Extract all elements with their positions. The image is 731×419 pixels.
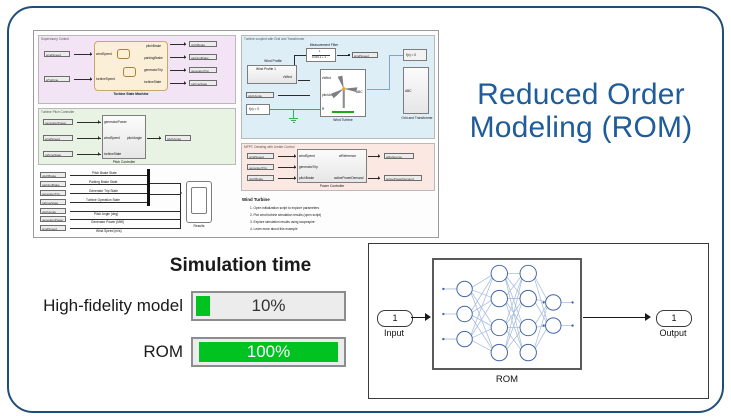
port-out-filter-windspeed[interactable]: windSpeed: [352, 52, 378, 58]
label-solver-config-2: f(x) = 0: [406, 53, 416, 57]
input-port-value: 1: [392, 313, 397, 323]
page-title: Reduced Order Modeling (ROM): [445, 78, 717, 144]
caption-pitch-controller: Pitch Controller: [102, 160, 146, 164]
label-chart-in-windspeed: windSpeed: [96, 52, 112, 56]
wire-arrow: [378, 154, 380, 158]
caption-wind-profile: Wind Profile: [246, 59, 300, 63]
caption-grid-and-transformer: Grid and Transformer: [397, 116, 437, 120]
wire-arrow: [294, 176, 296, 180]
scope-port-generatorpower[interactable]: generatorPower: [40, 216, 66, 222]
simulation-time-heading: Simulation time: [133, 255, 348, 277]
label-power-out-wreference: wReference: [339, 154, 356, 158]
scope-screen: [191, 187, 207, 214]
port-in-power-pitchbrake[interactable]: pitchBrake: [247, 175, 274, 181]
wire: [70, 211, 180, 212]
label-power-in-pitchbrake: pitchBrake: [299, 176, 314, 180]
rom-diagram-panel[interactable]: 1 Input: [368, 243, 709, 399]
output-port-value: 1: [671, 313, 676, 323]
wire-arrow: [98, 152, 100, 156]
label-chart-out-pitchbrake: pitchBrake: [146, 44, 161, 48]
notes-item-4[interactable]: 4. Learn more about this example: [250, 227, 298, 231]
port-in-pitch-turbinestate[interactable]: turbineState: [43, 151, 73, 157]
progress-bar-rom[interactable]: 100%: [191, 337, 346, 367]
wire-arrow: [98, 120, 100, 124]
port-in-supervisory-wturbine[interactable]: wTurbine: [44, 76, 70, 82]
notes-heading: Wind Turbine: [242, 197, 270, 202]
sim-label-high-fidelity: High-fidelity model: [28, 291, 183, 321]
label-chart-out-generatortrip: generatorTrip: [144, 68, 163, 72]
simulink-model-canvas[interactable]: Supervisory Control windSpeed wTurbine w…: [33, 30, 439, 238]
label-solver-config-1: f(x) = 0: [249, 107, 259, 111]
port-in-supervisory-windspeed[interactable]: windSpeed: [44, 51, 70, 57]
title-line-2: Modeling (ROM): [445, 111, 717, 144]
port-out-pitchangle[interactable]: pitchAngle: [165, 135, 191, 141]
wire-arrow: [294, 165, 296, 169]
sim-row-rom: ROM 100%: [28, 337, 348, 367]
simulation-time-section: Simulation time High-fidelity model 10% …: [28, 255, 348, 375]
label-chart-in-turbinespeed: turbineSpeed: [96, 77, 115, 81]
scope-port-pitchangle[interactable]: pitchAngle: [40, 208, 66, 214]
scope-port-turbinestate[interactable]: turbineState: [40, 199, 66, 205]
signal-label-generator-power: Generator Power (MW): [91, 220, 124, 224]
wire-arrow: [90, 52, 92, 56]
scope-port-parkingbrake[interactable]: parkingBrake: [40, 181, 66, 187]
caption-power-controller: Power Controller: [297, 184, 367, 188]
bus-wire: [389, 55, 390, 90]
output-port-block[interactable]: 1: [656, 310, 692, 327]
label-wind-profile-out: vWind: [283, 75, 292, 79]
label-power-out-activepowerdemand: activePowerDemand: [334, 176, 363, 180]
port-out-parkingbrake[interactable]: parkingBrake: [189, 54, 217, 60]
wire-junction: [348, 54, 350, 56]
label-power-in-generatortrip: generatorTrip: [299, 165, 318, 169]
progress-percent-rom: 100%: [193, 339, 344, 365]
title-line-1: Reduced Order: [445, 78, 717, 111]
wire-arrow: [159, 136, 161, 140]
wire: [70, 175, 147, 176]
label-pitch-out-pitchangle: pitchAngle: [127, 136, 142, 140]
output-port-caption: Output: [651, 328, 695, 338]
notes-item-1[interactable]: 1. Open initialization script to explore…: [250, 206, 319, 210]
wire: [70, 184, 147, 185]
wire-arrow: [378, 176, 380, 180]
label-wind-profile-1: Wind Profile 1: [256, 67, 276, 71]
label-chart-out-turbinestate: turbineState: [144, 80, 161, 84]
caption-turbine-state-machine: Turbine State Machine: [94, 92, 168, 96]
label-pitch-in-turbinestate: turbineState: [104, 152, 121, 156]
wire-arrow: [180, 191, 182, 195]
wire: [278, 95, 310, 96]
label-pitch-in-generatorpower: generatorPower: [104, 120, 127, 124]
state-node-b: [123, 67, 136, 77]
wire: [180, 183, 181, 229]
state-node-a: [117, 49, 130, 59]
wire-arrow: [98, 136, 100, 140]
scope-port-windspeed[interactable]: windSpeed: [40, 225, 66, 231]
group-title-supervisory: Supervisory Control: [41, 37, 69, 41]
port-in-power-generatortrip[interactable]: generatorTrip: [247, 164, 274, 170]
rom-block-caption: ROM: [457, 374, 557, 385]
group-title-turbine-grid: Turbine coupled with Grid and Transforme…: [244, 37, 304, 41]
slide-canvas: Reduced Order Modeling (ROM) Supervisory…: [0, 0, 731, 419]
input-port-caption: Input: [372, 328, 416, 338]
wire-arrow: [184, 42, 186, 46]
filter-numerator: 1: [319, 49, 321, 53]
rom-block[interactable]: [432, 258, 582, 370]
scope-port-generatortrip[interactable]: generatorTrip: [40, 190, 66, 196]
wire-arrow: [294, 154, 296, 158]
label-pitch-in-windspeed: windSpeed: [104, 136, 120, 140]
port-in-pitch-generatorpower[interactable]: generatorPower: [43, 119, 73, 125]
wire: [150, 194, 180, 195]
port-out-activepowerdemand[interactable]: activePowerDemand: [384, 175, 422, 181]
input-port-block[interactable]: 1: [377, 310, 413, 327]
sim-label-rom: ROM: [28, 337, 183, 367]
port-in-pitchangle-turbine[interactable]: pitchAngle: [246, 92, 274, 98]
turbine-base-bar: [332, 111, 354, 113]
signal-label-wind-speed: Wind Speed (m/s): [96, 229, 122, 233]
wire-rom-to-output: [583, 317, 647, 318]
port-out-pitchbrake[interactable]: pitchBrake: [189, 41, 217, 47]
wire: [294, 55, 306, 56]
port-in-power-windspeed[interactable]: windSpeed: [247, 153, 274, 159]
group-title-mppt: MPPT, Derating with Limiter Control: [244, 145, 294, 149]
label-power-in-windspeed: windSpeed: [299, 154, 315, 158]
wire: [70, 228, 180, 229]
notes-item-2[interactable]: 2. Plot wind turbine simulation results …: [250, 213, 321, 217]
wire-arrow: [184, 55, 186, 59]
caption-measurement-filter: Measurement Filter: [289, 43, 359, 47]
physical-wire: [293, 109, 294, 118]
caption-wind-turbine: Wind Turbine: [320, 118, 366, 122]
bus-wire: [367, 89, 389, 90]
wire: [298, 80, 310, 81]
wire-arrow: [90, 77, 92, 81]
group-title-pitch: Turbine Pitch Controller: [41, 110, 74, 114]
wind-turbine-icon: [328, 73, 360, 111]
label-chart-out-parkingbrake: parkingBrake: [144, 56, 163, 60]
signal-label-pitch-angle: Pitch Angle (deg): [94, 212, 118, 216]
ground-icon: [289, 118, 298, 122]
port-out-generatortrip[interactable]: generatorTrip: [189, 67, 217, 73]
bus-wire: [389, 55, 403, 56]
port-in-pitch-windspeed[interactable]: windSpeed: [43, 135, 73, 141]
label-grid-in-abc: ABC: [405, 89, 412, 93]
port-out-wreference[interactable]: wReference: [384, 153, 414, 159]
notes-item-3[interactable]: 3. Explore simulation results using scop…: [250, 220, 315, 224]
sim-row-high-fidelity: High-fidelity model 10%: [28, 291, 348, 321]
caption-results: Results: [186, 224, 212, 228]
progress-bar-high-fidelity[interactable]: 10%: [191, 291, 346, 321]
wire: [70, 202, 147, 203]
wire-arrow-into-output: [645, 313, 651, 321]
wire: [70, 219, 180, 220]
physical-wire: [270, 109, 320, 110]
wire-arrow: [184, 81, 186, 85]
neural-network-icon: [434, 260, 580, 368]
scope-port-pitchbrake[interactable]: pitchBrake: [40, 172, 66, 178]
mux-bar: [147, 169, 150, 206]
wire: [70, 193, 147, 194]
wire-arrow: [184, 68, 186, 72]
wire-arrow-into-rom: [425, 313, 431, 321]
wire: [150, 183, 180, 184]
port-out-turbinestate[interactable]: turbineState: [189, 80, 217, 86]
label-turbine-ref-r: R: [322, 107, 324, 111]
filter-denominator: 0.001 s + 1: [312, 55, 326, 59]
progress-percent-high-fidelity: 10%: [193, 293, 344, 319]
